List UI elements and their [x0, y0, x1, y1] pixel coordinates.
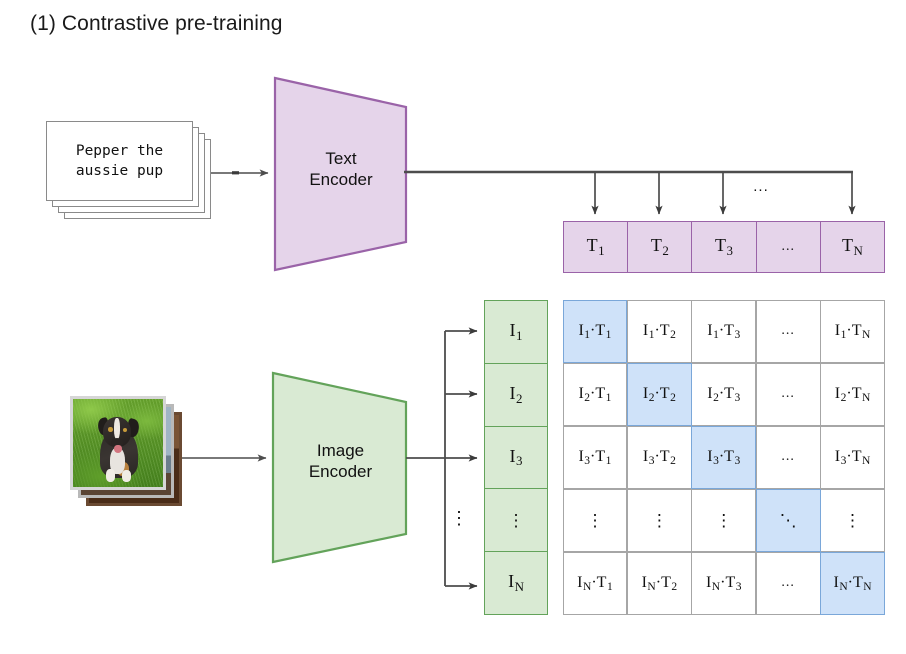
matrix-cell[interactable]: IN·T1 [563, 552, 628, 616]
matrix-cell-ellipsis: ⋮ [563, 489, 628, 553]
puppy-face-blaze [114, 418, 120, 439]
image-embedding-cell[interactable]: IN [484, 551, 548, 615]
matrix-cell-ellipsis: ... [756, 300, 821, 364]
image-embedding-cell[interactable]: I3 [484, 426, 548, 490]
puppy-tongue [114, 445, 122, 453]
text-embedding-cell[interactable]: T2 [627, 221, 692, 273]
matrix-cell-ellipsis: ... [756, 552, 821, 616]
puppy-paw-left [106, 469, 115, 481]
image-embedding-column: I1 I2 I3 ⋮ IN [484, 300, 548, 615]
t-row-ellipsis: ... [781, 239, 795, 255]
similarity-matrix: I1·T1I1·T2I1·T3...I1·TNI2·T1I2·T2I2·T3..… [563, 300, 885, 615]
matrix-cell-ellipsis: ⋮ [820, 489, 885, 553]
image-embedding-bus [406, 331, 477, 586]
photo-puppy [70, 396, 166, 490]
text-embedding-cell[interactable]: T3 [691, 221, 756, 273]
matrix-cell-ellipsis: ... [756, 426, 821, 490]
text-encoder-block: Text Encoder [270, 72, 412, 276]
text-embedding-row: T1 T2 T3 ... TN [563, 221, 885, 273]
puppy-paw-right [122, 470, 131, 481]
matrix-cell[interactable]: I1·T1 [563, 300, 628, 364]
matrix-cell-ellipsis: ⋱ [756, 489, 821, 553]
text-embedding-cell[interactable]: TN [820, 221, 885, 273]
text-encoder-shape [270, 72, 412, 276]
text-bus-ellipsis: ... [748, 178, 774, 195]
i-col-ellipsis: ⋮ [508, 512, 525, 529]
image-embedding-cell[interactable]: I1 [484, 300, 548, 364]
matrix-cell-ellipsis: ... [756, 363, 821, 427]
image-bus-ellipsis: ⋮ [450, 508, 468, 529]
matrix-cell[interactable]: I2·T3 [691, 363, 756, 427]
matrix-cell-ellipsis: ⋮ [627, 489, 692, 553]
image-embedding-cell-ellipsis: ⋮ [484, 488, 548, 552]
matrix-cell[interactable]: I2·T1 [563, 363, 628, 427]
image-encoder-block: Image Encoder [268, 368, 413, 568]
matrix-cell[interactable]: IN·T3 [691, 552, 756, 616]
text-card-caption: Pepper the aussie pup [76, 141, 163, 181]
matrix-cell[interactable]: I2·T2 [627, 363, 692, 427]
matrix-cell[interactable]: I3·T3 [691, 426, 756, 490]
image-encoder-shape [268, 368, 413, 568]
text-embedding-cell[interactable]: T1 [563, 221, 628, 273]
text-embedding-bus [404, 172, 853, 214]
matrix-cell[interactable]: I3·T2 [627, 426, 692, 490]
matrix-cell[interactable]: I3·T1 [563, 426, 628, 490]
text-card-front: Pepper the aussie pup [46, 121, 193, 201]
matrix-cell[interactable]: I3·TN [820, 426, 885, 490]
matrix-cell[interactable]: I2·TN [820, 363, 885, 427]
matrix-cell[interactable]: I1·TN [820, 300, 885, 364]
text-embedding-cell-ellipsis: ... [756, 221, 821, 273]
matrix-cell[interactable]: IN·T2 [627, 552, 692, 616]
matrix-cell[interactable]: I1·T3 [691, 300, 756, 364]
matrix-cell[interactable]: I1·T2 [627, 300, 692, 364]
matrix-cell[interactable]: IN·TN [820, 552, 885, 616]
figure-canvas: (1) Contrastive pre-training Pepper the … [0, 0, 906, 654]
puppy-eye-left [108, 427, 113, 431]
matrix-cell-ellipsis: ⋮ [691, 489, 756, 553]
figure-title: (1) Contrastive pre-training [30, 12, 283, 36]
image-embedding-cell[interactable]: I2 [484, 363, 548, 427]
